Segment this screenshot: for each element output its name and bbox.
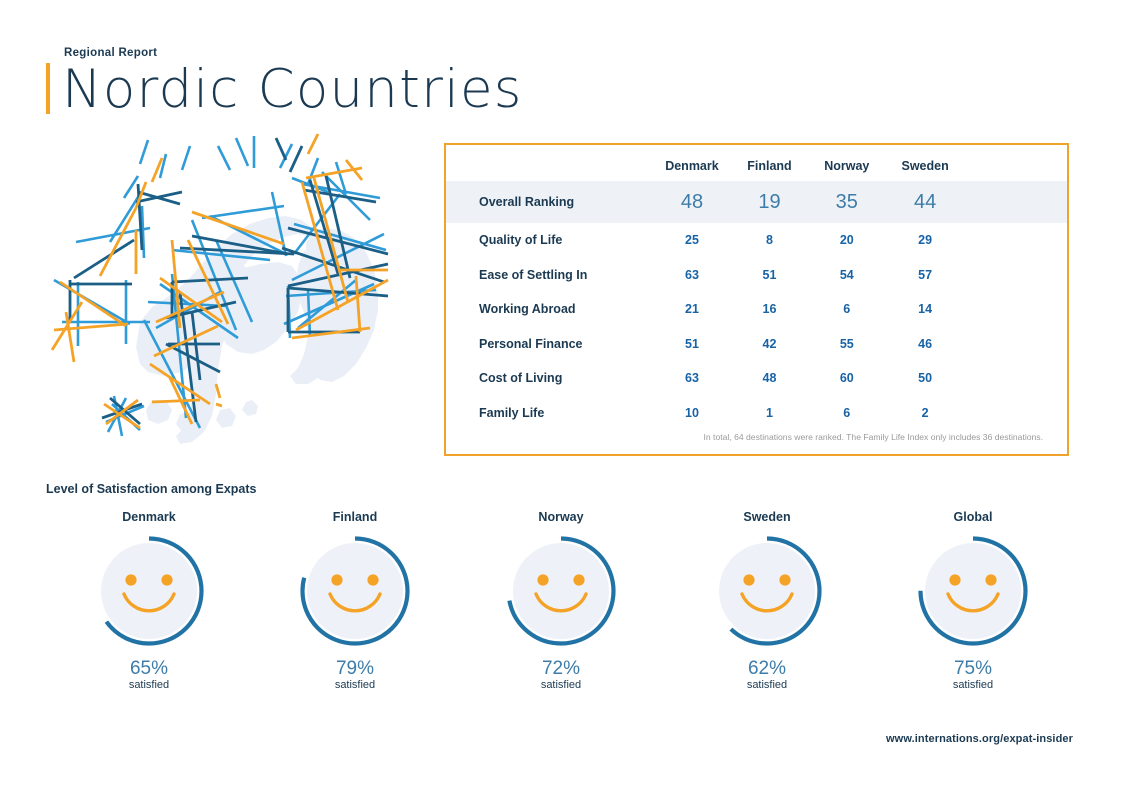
row-label-cost-of-living: Cost of Living [446, 361, 653, 396]
smiley-gauge-icon-norway [503, 533, 619, 649]
row-label-overall-ranking: Overall Ranking [446, 181, 653, 223]
gauge-caption-finland: satisfied [252, 679, 458, 692]
cell-working-abroad-denmark: 21 [653, 292, 732, 327]
cell-family-life-norway: 6 [808, 396, 886, 431]
smiley-gauge-icon-denmark [91, 533, 207, 649]
cell-quality-of-life-sweden: 29 [886, 223, 964, 258]
smiley-eye-right [161, 574, 172, 585]
page-title: Nordic Countries [62, 59, 523, 120]
footer-url: www.internations.org/expat-insider [886, 733, 1073, 745]
cell-cost-of-living-sweden: 50 [886, 361, 964, 396]
smiley-eye-left [331, 574, 342, 585]
header-accent-bar [46, 63, 50, 114]
smiley-eye-right [779, 574, 790, 585]
table-row: Quality of Life 25 8 20 29 [446, 223, 1067, 258]
row-label-working-abroad: Working Abroad [446, 292, 653, 327]
gauge-percent-global: 75% [870, 659, 1076, 679]
column-header-sweden: Sweden [886, 145, 964, 181]
ranking-table-card: Denmark Finland Norway Sweden Overall Ra… [444, 143, 1069, 456]
smiley-gauge-icon-sweden [709, 533, 825, 649]
satisfaction-section-heading: Level of Satisfaction among Expats [46, 482, 256, 496]
smiley-eye-right [573, 574, 584, 585]
cell-personal-finance-finland: 42 [731, 327, 807, 362]
table-corner-blank [446, 145, 653, 181]
smiley-eye-right [985, 574, 996, 585]
gauge-sweden: Sweden 62% satisfied [664, 510, 870, 700]
smiley-gauge-icon-global [915, 533, 1031, 649]
gauge-caption-global: satisfied [870, 679, 1076, 692]
gauge-percent-denmark: 65% [46, 659, 252, 679]
cell-ease-of-settling-in-norway: 54 [808, 258, 886, 293]
cell-pad [964, 258, 1067, 293]
column-header-denmark: Denmark [653, 145, 732, 181]
cell-working-abroad-finland: 16 [731, 292, 807, 327]
cell-cost-of-living-denmark: 63 [653, 361, 732, 396]
cell-pad [964, 223, 1067, 258]
cell-quality-of-life-denmark: 25 [653, 223, 732, 258]
smiley-eye-right [367, 574, 378, 585]
cell-quality-of-life-norway: 20 [808, 223, 886, 258]
cell-pad [964, 361, 1067, 396]
cell-ease-of-settling-in-denmark: 63 [653, 258, 732, 293]
satisfaction-gauges-row: Denmark 65% satisfied Finland 79% s [46, 510, 1076, 700]
cell-ease-of-settling-in-sweden: 57 [886, 258, 964, 293]
ranking-table: Denmark Finland Norway Sweden Overall Ra… [446, 145, 1067, 430]
row-label-family-life: Family Life [446, 396, 653, 431]
gauge-country-label-sweden: Sweden [664, 510, 870, 524]
table-row: Overall Ranking 48 19 35 44 [446, 181, 1067, 223]
ranking-table-header-row: Denmark Finland Norway Sweden [446, 145, 1067, 181]
table-row: Personal Finance 51 42 55 46 [446, 327, 1067, 362]
ranking-table-head: Denmark Finland Norway Sweden [446, 145, 1067, 181]
cell-working-abroad-norway: 6 [808, 292, 886, 327]
ranking-table-body: Overall Ranking 48 19 35 44 Quality of L… [446, 181, 1067, 430]
gauge-percent-finland: 79% [252, 659, 458, 679]
cell-overall-ranking-finland: 19 [731, 181, 807, 223]
gauge-country-label-denmark: Denmark [46, 510, 252, 524]
cell-family-life-denmark: 10 [653, 396, 732, 431]
table-row: Cost of Living 63 48 60 50 [446, 361, 1067, 396]
row-label-quality-of-life: Quality of Life [446, 223, 653, 258]
cell-overall-ranking-sweden: 44 [886, 181, 964, 223]
cell-family-life-finland: 1 [731, 396, 807, 431]
row-label-personal-finance: Personal Finance [446, 327, 653, 362]
cell-overall-ranking-denmark: 48 [653, 181, 732, 223]
table-pad-column [964, 145, 1067, 181]
nordic-map-illustration [40, 132, 440, 452]
smiley-eye-left [125, 574, 136, 585]
report-kicker: Regional Report [64, 47, 157, 59]
cell-personal-finance-denmark: 51 [653, 327, 732, 362]
cell-ease-of-settling-in-finland: 51 [731, 258, 807, 293]
table-row: Working Abroad 21 16 6 14 [446, 292, 1067, 327]
column-header-finland: Finland [731, 145, 807, 181]
gauge-caption-sweden: satisfied [664, 679, 870, 692]
gauge-global: Global 75% satisfied [870, 510, 1076, 700]
cell-cost-of-living-finland: 48 [731, 361, 807, 396]
cell-pad [964, 327, 1067, 362]
table-row: Ease of Settling In 63 51 54 57 [446, 258, 1067, 293]
smiley-gauge-icon-finland [297, 533, 413, 649]
gauge-caption-norway: satisfied [458, 679, 664, 692]
table-footnote: In total, 64 destinations were ranked. T… [704, 432, 1044, 442]
cell-overall-ranking-norway: 35 [808, 181, 886, 223]
smiley-eye-left [949, 574, 960, 585]
cell-personal-finance-norway: 55 [808, 327, 886, 362]
cell-working-abroad-sweden: 14 [886, 292, 964, 327]
gauge-caption-denmark: satisfied [46, 679, 252, 692]
table-row: Family Life 10 1 6 2 [446, 396, 1067, 431]
smiley-eye-left [743, 574, 754, 585]
gauge-country-label-global: Global [870, 510, 1076, 524]
cell-pad [964, 396, 1067, 431]
gauge-finland: Finland 79% satisfied [252, 510, 458, 700]
column-header-norway: Norway [808, 145, 886, 181]
cell-personal-finance-sweden: 46 [886, 327, 964, 362]
cell-quality-of-life-finland: 8 [731, 223, 807, 258]
gauge-norway: Norway 72% satisfied [458, 510, 664, 700]
cell-pad [964, 292, 1067, 327]
smiley-eye-left [537, 574, 548, 585]
gauge-country-label-norway: Norway [458, 510, 664, 524]
cell-cost-of-living-norway: 60 [808, 361, 886, 396]
gauge-denmark: Denmark 65% satisfied [46, 510, 252, 700]
cell-pad [964, 181, 1067, 223]
row-label-ease-of-settling-in: Ease of Settling In [446, 258, 653, 293]
page-header: Regional Report Nordic Countries [46, 42, 666, 120]
cell-family-life-sweden: 2 [886, 396, 964, 431]
gauge-percent-sweden: 62% [664, 659, 870, 679]
gauge-percent-norway: 72% [458, 659, 664, 679]
gauge-country-label-finland: Finland [252, 510, 458, 524]
